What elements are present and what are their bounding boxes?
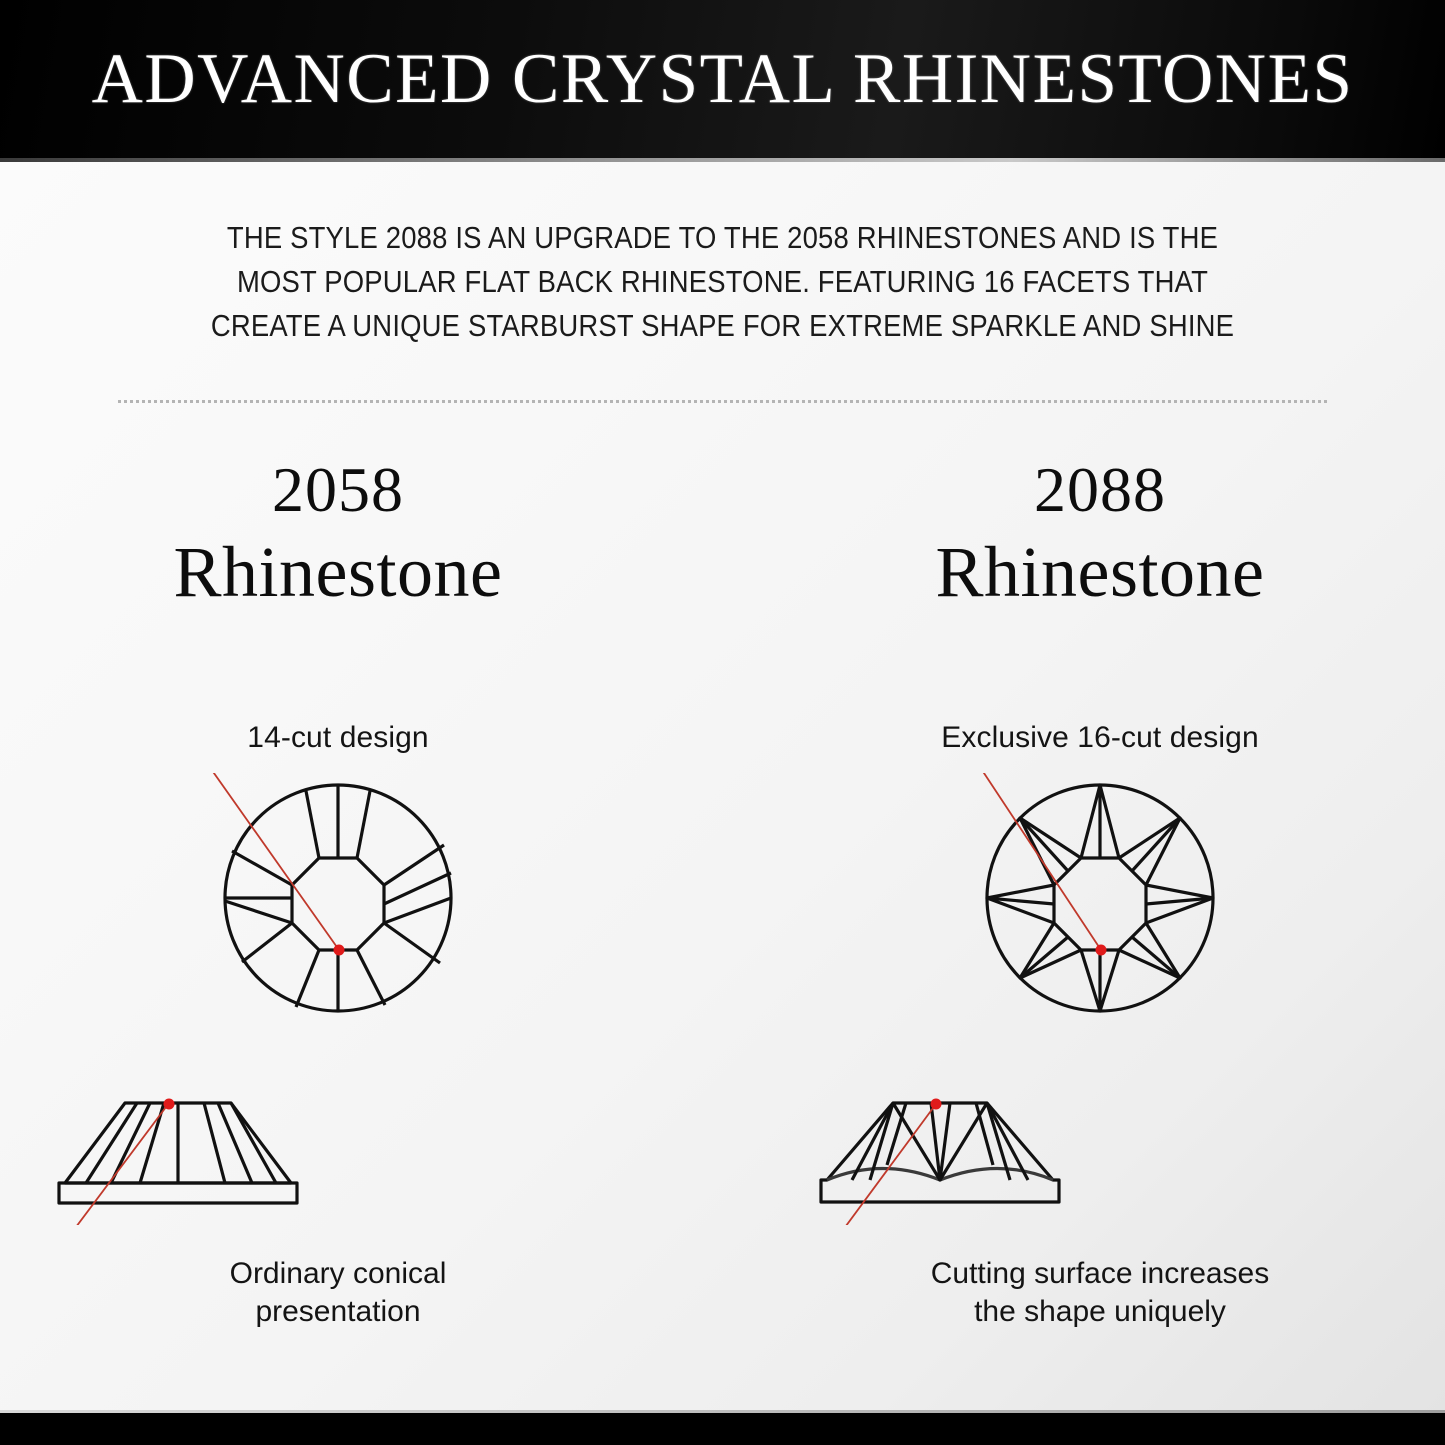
leader-line-top-2088 (976, 773, 1101, 950)
caption-2088-line-1: Cutting surface increases (790, 1255, 1410, 1293)
figure-2088-top (790, 773, 1410, 1023)
leader-dot-profile-2088 (931, 1099, 942, 1110)
column-2088: 2088 Rhinestone Exclusive 16-cut design (790, 458, 1410, 1331)
base-slab (59, 1183, 297, 1203)
facet-line-11 (242, 923, 292, 962)
facet-line-1 (306, 791, 319, 858)
leader-dot-top-2058 (334, 945, 345, 956)
figure-2058-profile (28, 1085, 648, 1225)
leader-line-top-2058 (204, 773, 339, 950)
body-area: THE STYLE 2088 IS AN UPGRADE TO THE 2058… (0, 162, 1445, 1413)
caption-2058: Ordinary conical presentation (28, 1255, 648, 1331)
facet-line-8 (357, 950, 385, 1005)
intro-line-1: THE STYLE 2088 IS AN UPGRADE TO THE 2058… (167, 216, 1279, 260)
header-band: ADVANCED CRYSTAL RHINESTONES (0, 0, 1445, 158)
intro-paragraph: THE STYLE 2088 IS AN UPGRADE TO THE 2058… (167, 216, 1279, 348)
dotted-divider (118, 400, 1330, 403)
caption-2088: Cutting surface increases the shape uniq… (790, 1255, 1410, 1331)
2088-top-view-diagram (950, 773, 1250, 1023)
column-2088-number: 2088 (790, 458, 1410, 522)
infographic-page: ADVANCED CRYSTAL RHINESTONES THE STYLE 2… (0, 0, 1445, 1445)
leader-line-profile-2058 (58, 1103, 169, 1225)
figure-2058-top (28, 773, 648, 1023)
caption-2058-line-2: presentation (28, 1293, 648, 1331)
leader-dot-top-2088 (1096, 945, 1107, 956)
figure-2088-profile (790, 1085, 1410, 1225)
table-octagon-main (1054, 858, 1146, 950)
crown-outline (821, 1103, 1059, 1202)
facet-line-2 (357, 791, 370, 858)
facet-line-10 (296, 950, 319, 1007)
profile-facet-7 (231, 1103, 276, 1183)
star-spine-sw (1020, 937, 1068, 978)
callout-14-cut-design: 14-cut design (28, 721, 648, 755)
leader-dot-profile-2058 (164, 1099, 175, 1110)
column-2088-word: Rhinestone (790, 536, 1410, 608)
star-spine-se (1132, 937, 1180, 978)
footer-band (0, 1413, 1445, 1445)
facet-line-12 (225, 901, 292, 923)
column-2088-heading: 2088 Rhinestone (790, 458, 1410, 608)
column-2058-number: 2058 (28, 458, 648, 522)
2088-profile-view-diagram (790, 1085, 1090, 1225)
column-2058: 2058 Rhinestone 14-cut design (28, 458, 648, 1331)
caption-2088-line-2: the shape uniquely (790, 1293, 1410, 1331)
caption-2058-line-1: Ordinary conical (28, 1255, 648, 1293)
intro-line-2: MOST POPULAR FLAT BACK RHINESTONE. FEATU… (167, 260, 1279, 304)
column-2058-word: Rhinestone (28, 536, 648, 608)
facet-line-7 (384, 923, 440, 963)
column-2058-heading: 2058 Rhinestone (28, 458, 648, 608)
facet-line-14 (232, 851, 292, 885)
facet-line-5 (384, 898, 451, 923)
2058-profile-view-diagram (28, 1085, 328, 1225)
intro-line-3: CREATE A UNIQUE STARBURST SHAPE FOR EXTR… (167, 304, 1279, 348)
2058-top-view-diagram (188, 773, 488, 1023)
page-title: ADVANCED CRYSTAL RHINESTONES (0, 0, 1445, 158)
callout-16-cut-design: Exclusive 16-cut design (790, 721, 1410, 755)
